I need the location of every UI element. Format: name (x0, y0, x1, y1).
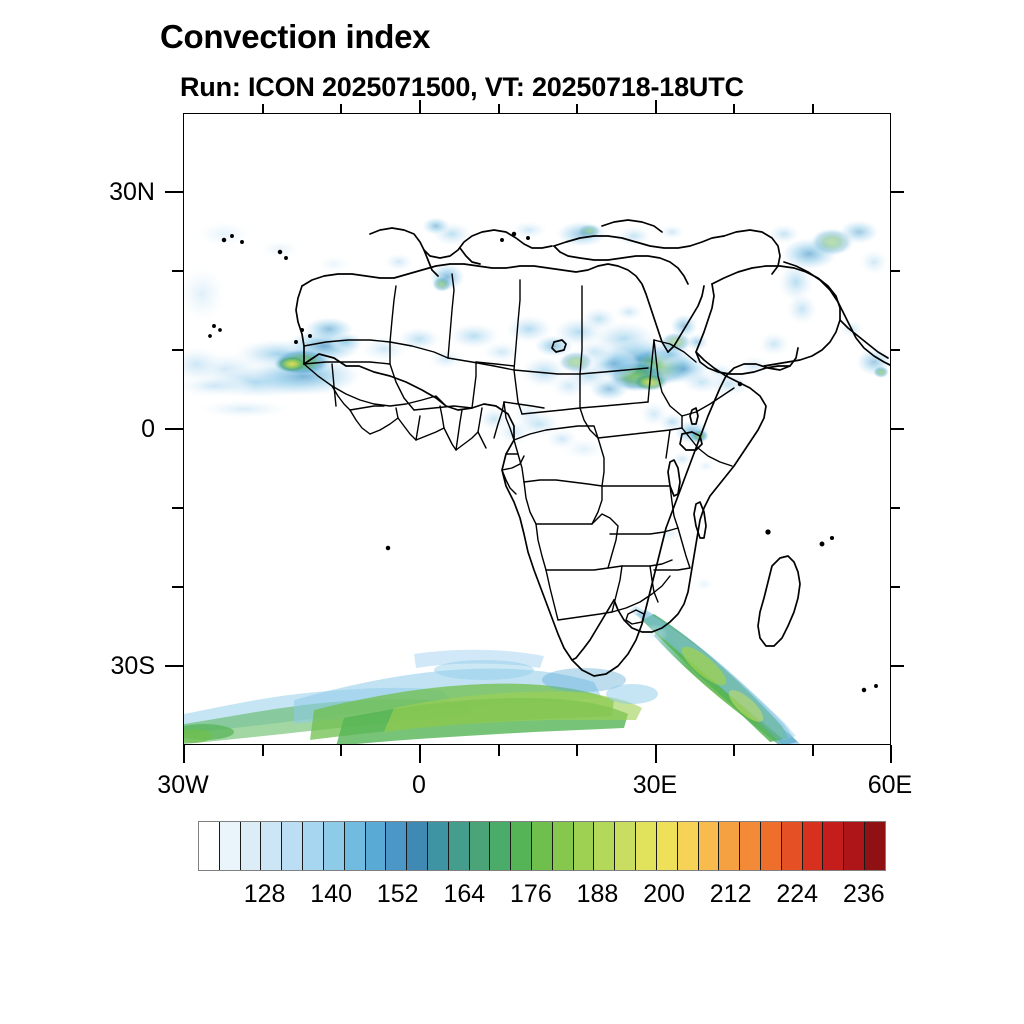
ylabel-30S: 30S (60, 652, 155, 681)
figure-root: Convection index Run: ICON 2025071500, V… (0, 0, 1024, 1024)
colorbar-cell (594, 822, 615, 870)
xlabel-30W: 30W (123, 771, 243, 800)
colorbar-tick-label: 176 (510, 880, 552, 909)
colorbar-cell (470, 822, 491, 870)
colorbar-cell (553, 822, 574, 870)
map-canvas (184, 114, 891, 745)
colorbar-cell (428, 822, 449, 870)
ytick-right-30N (891, 191, 904, 193)
colorbar-tick-label: 152 (377, 880, 419, 909)
colorbar-cell (386, 822, 407, 870)
run-subtitle: Run: ICON 2025071500, VT: 20250718-18UTC (180, 72, 744, 103)
ylabel-30N: 30N (60, 178, 155, 207)
ytick-right-30S (891, 665, 904, 667)
colorbar-cell (699, 822, 720, 870)
xtick-20W (262, 745, 264, 756)
ytick-20N (172, 270, 183, 272)
colorbar-tick-label: 212 (710, 880, 752, 909)
colorbar-cell (865, 822, 885, 870)
xtick-60E (890, 745, 892, 763)
xtick-50E (812, 745, 814, 756)
xtick-30W (183, 745, 185, 763)
colorbar-tick-label: 200 (643, 880, 685, 909)
colorbar-labels: 128140152164176188200212224236 (198, 880, 884, 914)
ytick-20S (172, 586, 183, 588)
colorbar-cell (719, 822, 740, 870)
colorbar-cell (220, 822, 241, 870)
colorbar-cell (615, 822, 636, 870)
colorbar-cell (303, 822, 324, 870)
colorbar-cell (511, 822, 532, 870)
colorbar-cell (532, 822, 553, 870)
ytick-right-20N (891, 270, 900, 272)
colorbar-cell (823, 822, 844, 870)
colorbar-tick-label: 164 (443, 880, 485, 909)
colorbar-cell (407, 822, 428, 870)
xlabel-0: 0 (359, 771, 479, 800)
ylabel-0: 0 (60, 415, 155, 444)
xtick-10E (498, 745, 500, 756)
ytick-10S (172, 507, 183, 509)
ytick-30S (165, 665, 183, 667)
xlabel-60E: 60E (830, 771, 950, 800)
colorbar-cell (261, 822, 282, 870)
xtick-top-30E (655, 100, 657, 113)
ytick-right-0 (891, 428, 904, 430)
xtick-40E (733, 745, 735, 756)
ytick-right-20S (891, 586, 900, 588)
xlabel-30E: 30E (595, 771, 715, 800)
xtick-top-40E (733, 104, 735, 113)
xtick-top-10E (498, 104, 500, 113)
colorbar-cell (574, 822, 595, 870)
colorbar-tick-label: 140 (310, 880, 352, 909)
page-title: Convection index (160, 18, 430, 56)
colorbar-cell (199, 822, 220, 870)
colorbar-cell (345, 822, 366, 870)
xtick-top-50E (812, 104, 814, 113)
colorbar[interactable] (198, 821, 886, 871)
colorbar-cell (678, 822, 699, 870)
colorbar-cell (490, 822, 511, 870)
colorbar-cell (803, 822, 824, 870)
xtick-top-20W (262, 104, 264, 113)
xtick-top-10W (340, 104, 342, 113)
xtick-top-0 (419, 100, 421, 113)
colorbar-tick-label: 236 (843, 880, 885, 909)
colorbar-cell (844, 822, 865, 870)
colorbar-cell (657, 822, 678, 870)
colorbar-tick-label: 128 (244, 880, 286, 909)
colorbar-cell (366, 822, 387, 870)
colorbar-cell (282, 822, 303, 870)
colorbar-cell (449, 822, 470, 870)
colorbar-tick-label: 188 (577, 880, 619, 909)
map-panel[interactable] (183, 113, 891, 745)
ytick-10N (172, 349, 183, 351)
colorbar-cell (324, 822, 345, 870)
xtick-30E (655, 745, 657, 763)
xtick-10W (340, 745, 342, 756)
colorbar-tick-label: 224 (776, 880, 818, 909)
colorbar-cell (761, 822, 782, 870)
colorbar-cell (740, 822, 761, 870)
colorbar-cell (241, 822, 262, 870)
xtick-top-20E (576, 104, 578, 113)
xtick-0 (419, 745, 421, 763)
xtick-20E (576, 745, 578, 756)
ytick-0 (165, 428, 183, 430)
ytick-30N (165, 191, 183, 193)
colorbar-cell (782, 822, 803, 870)
ytick-right-10N (891, 349, 900, 351)
ytick-right-10S (891, 507, 900, 509)
colorbar-cell (636, 822, 657, 870)
